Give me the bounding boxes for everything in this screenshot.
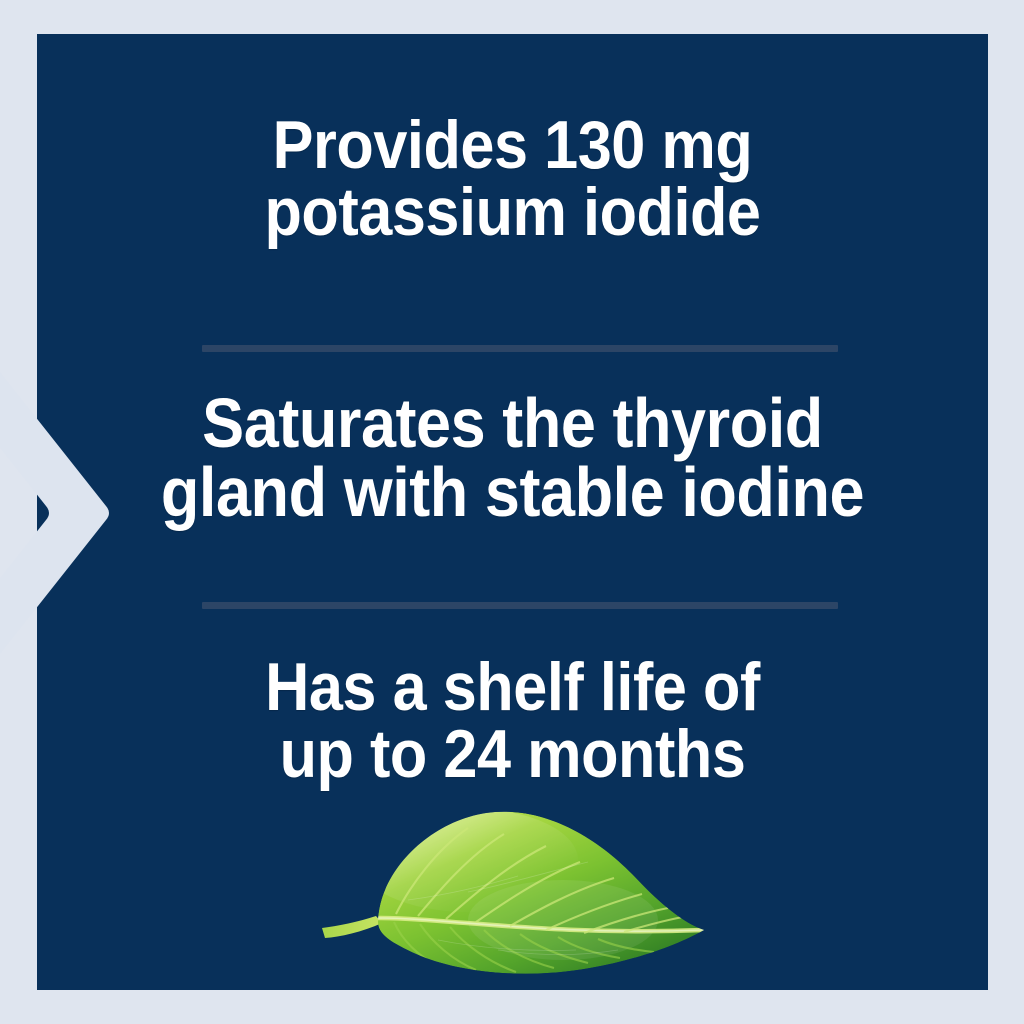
benefit-dose-line-2: potassium iodide [85,179,941,246]
benefit-thyroid-line-2: gland with stable iodine [85,458,941,527]
divider-2 [202,602,838,609]
benefit-shelf-life-line-1: Has a shelf life of [85,654,941,721]
leaf-icon [318,800,708,985]
benefit-thyroid: Saturates the thyroid gland with stable … [85,389,941,526]
leaf-stem [322,916,382,938]
poster-canvas: Provides 130 mg potassium iodide Saturat… [0,0,1024,1024]
benefit-shelf-life: Has a shelf life of up to 24 months [85,654,941,787]
benefit-dose: Provides 130 mg potassium iodide [85,112,941,245]
benefit-thyroid-line-1: Saturates the thyroid [85,389,941,458]
benefit-dose-line-1: Provides 130 mg [85,112,941,179]
benefit-shelf-life-line-2: up to 24 months [85,721,941,788]
divider-1 [202,345,838,352]
